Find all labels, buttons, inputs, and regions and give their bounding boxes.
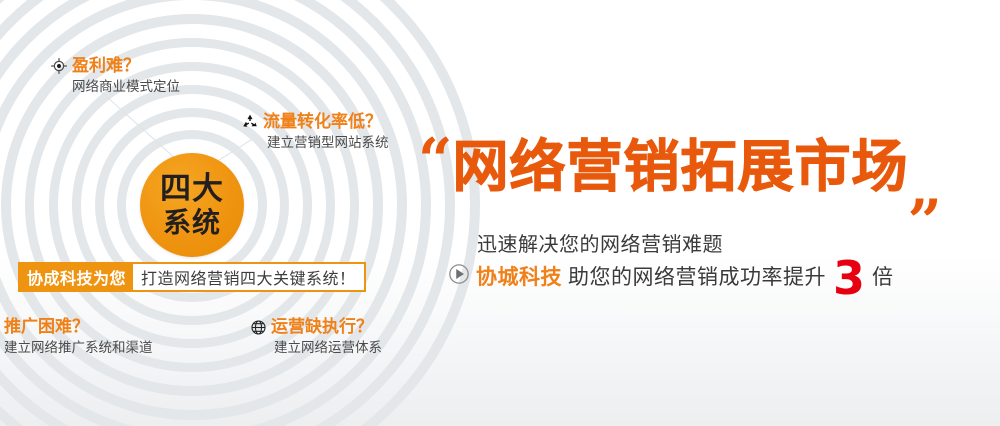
- recycle-icon: [241, 113, 259, 131]
- sub-line-1: 迅速解决您的网络营销难题: [477, 228, 723, 257]
- center-badge: 四大 系统: [140, 153, 244, 257]
- quote-open: “: [418, 140, 453, 183]
- globe-icon: [250, 319, 267, 336]
- callout-promotion-subtitle: 建立网络推广系统和渠道: [4, 340, 153, 356]
- callout-profit-title: 盈利难？: [72, 57, 140, 76]
- headline: “ 网络营销拓展市场 „: [418, 140, 943, 196]
- sub-line-2-rest: 助您的网络营销成功率提升: [568, 261, 826, 291]
- callout-promotion-title: 推广困难？: [4, 318, 89, 337]
- multiplier-unit: 倍: [872, 261, 893, 291]
- callout-operation: 运营缺执行？ 建立网络运营体系: [250, 318, 382, 356]
- callout-conversion-subtitle: 建立营销型网站系统: [267, 135, 389, 151]
- center-badge-line2: 系统: [163, 209, 221, 237]
- marketing-banner: 四大 系统 盈利难？ 网络商业模式定位: [0, 0, 1000, 426]
- callout-promotion: 推广困难？ 建立网络推广系统和渠道: [4, 318, 153, 356]
- callout-profit: 盈利难？ 网络商业模式定位: [50, 57, 180, 95]
- sub-line-2: 协城科技 助您的网络营销成功率提升 3 倍: [448, 258, 893, 295]
- multiplier-number: 3: [833, 260, 865, 297]
- callout-promotion-title-row: 推广困难？: [4, 318, 153, 337]
- sub-line-2-brand: 协城科技: [476, 261, 562, 291]
- callout-conversion-title: 流量转化率低？: [263, 113, 382, 132]
- quote-close: „: [909, 167, 944, 210]
- play-arrow-icon: [448, 263, 470, 290]
- headline-text: 网络营销拓展市场: [453, 140, 909, 196]
- callout-conversion: 流量转化率低？ 建立营销型网站系统: [241, 113, 389, 151]
- callout-profit-title-row: 盈利难？: [50, 57, 180, 76]
- center-badge-line1: 四大: [160, 174, 224, 205]
- callout-conversion-title-row: 流量转化率低？: [241, 113, 389, 132]
- callout-profit-subtitle: 网络商业模式定位: [72, 79, 180, 95]
- slogan-bar: 协成科技为您 打造网络营销四大关键系统！: [18, 262, 366, 292]
- slogan-brand: 协成科技为您: [20, 264, 133, 290]
- slogan-text: 打造网络营销四大关键系统！: [133, 264, 364, 290]
- callout-operation-title-row: 运营缺执行？: [250, 318, 382, 337]
- callout-operation-title: 运营缺执行？: [271, 318, 373, 337]
- callout-operation-subtitle: 建立网络运营体系: [274, 340, 382, 356]
- target-icon: [50, 57, 68, 75]
